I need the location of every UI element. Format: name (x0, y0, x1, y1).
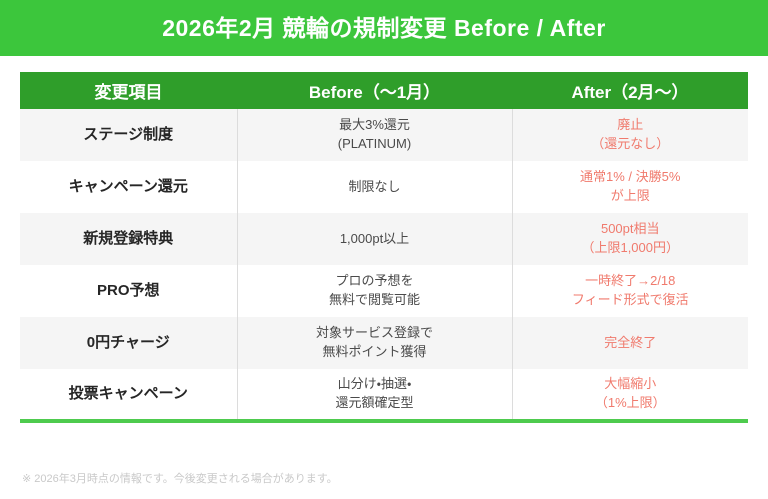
row-item-label: 0円チャージ (20, 317, 237, 369)
row-item-label: キャンペーン還元 (20, 161, 237, 213)
row-before-value: 1,000pt以上 (237, 213, 512, 265)
row-before-value: プロの予想を 無料で閲覧可能 (237, 265, 512, 317)
table-row: 0円チャージ 対象サービス登録で 無料ポイント獲得 完全終了 (20, 317, 748, 369)
row-before-value: 山分け・抽選・ 還元額確定型 (237, 369, 512, 421)
row-before-value: 対象サービス登録で 無料ポイント獲得 (237, 317, 512, 369)
table-header: 変更項目 Before（～1月） After（2月～） (20, 72, 748, 109)
row-after-value: 一時終了→2/18 フィード形式で復活 (512, 265, 748, 317)
table-header-row: 変更項目 Before（～1月） After（2月～） (20, 72, 748, 109)
column-header-item: 変更項目 (20, 72, 237, 109)
footer-note: ※ 2026年3月時点の情報です。今後変更される場合があります。 (22, 472, 338, 487)
column-header-after: After（2月～） (512, 72, 748, 109)
table-row: 投票キャンペーン 山分け・抽選・ 還元額確定型 大幅縮小 （1%上限） (20, 369, 748, 421)
row-after-value: 廃止 （還元なし） (512, 109, 748, 161)
row-after-value: 500pt相当 （上限1,000円） (512, 213, 748, 265)
row-item-label: PRO予想 (20, 265, 237, 317)
row-before-value: 制限なし (237, 161, 512, 213)
row-item-label: ステージ制度 (20, 109, 237, 161)
row-item-label: 投票キャンペーン (20, 369, 237, 421)
row-after-value: 大幅縮小 （1%上限） (512, 369, 748, 421)
comparison-table-container: 変更項目 Before（～1月） After（2月～） ステージ制度 最大3%還… (20, 72, 748, 423)
row-before-value: 最大3%還元 (PLATINUM) (237, 109, 512, 161)
table-row: PRO予想 プロの予想を 無料で閲覧可能 一時終了→2/18 フィード形式で復活 (20, 265, 748, 317)
row-after-value: 通常1% / 決勝5% が上限 (512, 161, 748, 213)
table-body: ステージ制度 最大3%還元 (PLATINUM) 廃止 （還元なし） キャンペー… (20, 109, 748, 421)
title-banner: 2026年2月 競輪の規制変更 Before / After (0, 0, 768, 56)
row-item-label: 新規登録特典 (20, 213, 237, 265)
table-row: キャンペーン還元 制限なし 通常1% / 決勝5% が上限 (20, 161, 748, 213)
row-after-value: 完全終了 (512, 317, 748, 369)
table-row: 新規登録特典 1,000pt以上 500pt相当 （上限1,000円） (20, 213, 748, 265)
column-header-before: Before（～1月） (237, 72, 512, 109)
comparison-table: 変更項目 Before（～1月） After（2月～） ステージ制度 最大3%還… (20, 72, 748, 423)
table-row: ステージ制度 最大3%還元 (PLATINUM) 廃止 （還元なし） (20, 109, 748, 161)
page-title: 2026年2月 競輪の規制変更 Before / After (162, 17, 606, 40)
